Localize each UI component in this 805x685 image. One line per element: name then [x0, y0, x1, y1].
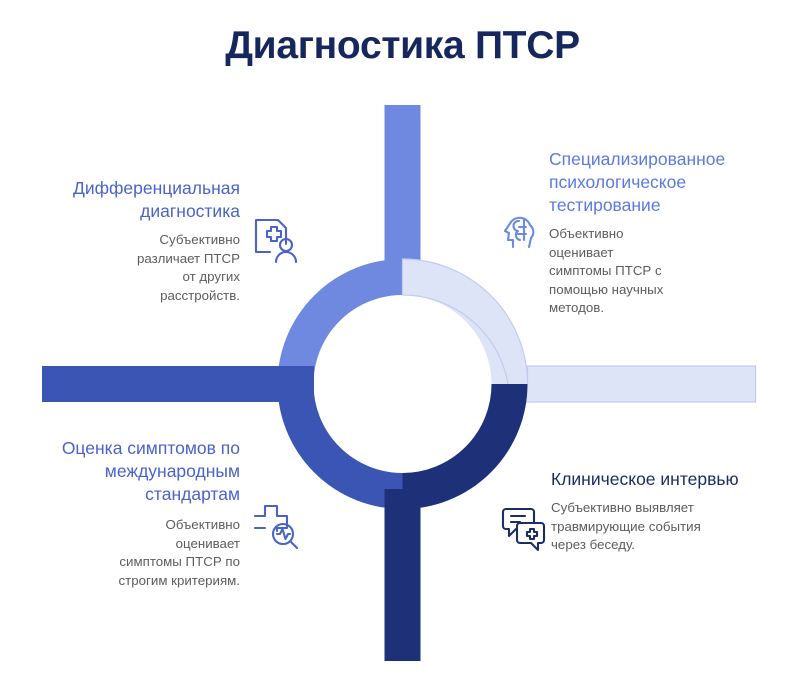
head-brain-icon — [497, 209, 549, 261]
connector-right-bar — [492, 366, 756, 402]
item-differential-body: Субъективно различает ПТСР от других рас… — [124, 231, 240, 305]
segment-differential — [296, 105, 421, 384]
document-person-icon — [250, 214, 302, 266]
item-testing-heading: Специализированное психологическое тести… — [549, 148, 781, 217]
item-differential: Дифференциальная диагностика Субъективно… — [16, 177, 240, 305]
item-differential-heading: Дифференциальная диагностика — [16, 177, 240, 223]
item-testing-body: Объективно оценивает симптомы ПТСР с пом… — [549, 225, 665, 318]
connector-bottom-stem — [385, 489, 421, 661]
cross-pulse-icon — [250, 500, 302, 552]
item-standards-heading: Оценка симптомов по международным станда… — [18, 437, 240, 506]
item-standards-body: Объективно оценивает симптомы ПТСР по ст… — [118, 516, 240, 590]
item-interview: Клиническое интервью Субъективно выявляе… — [551, 468, 787, 555]
item-testing: Специализированное психологическое тести… — [549, 148, 781, 318]
segment-interview — [385, 384, 510, 661]
chat-medical-icon — [497, 502, 549, 554]
item-standards: Оценка симптомов по международным станда… — [18, 437, 240, 590]
item-interview-body: Субъективно выявляет травмирующие событи… — [551, 499, 721, 555]
item-interview-heading: Клиническое интервью — [551, 468, 787, 491]
connector-top-stem — [385, 105, 421, 279]
connector-left-bar — [42, 366, 314, 402]
